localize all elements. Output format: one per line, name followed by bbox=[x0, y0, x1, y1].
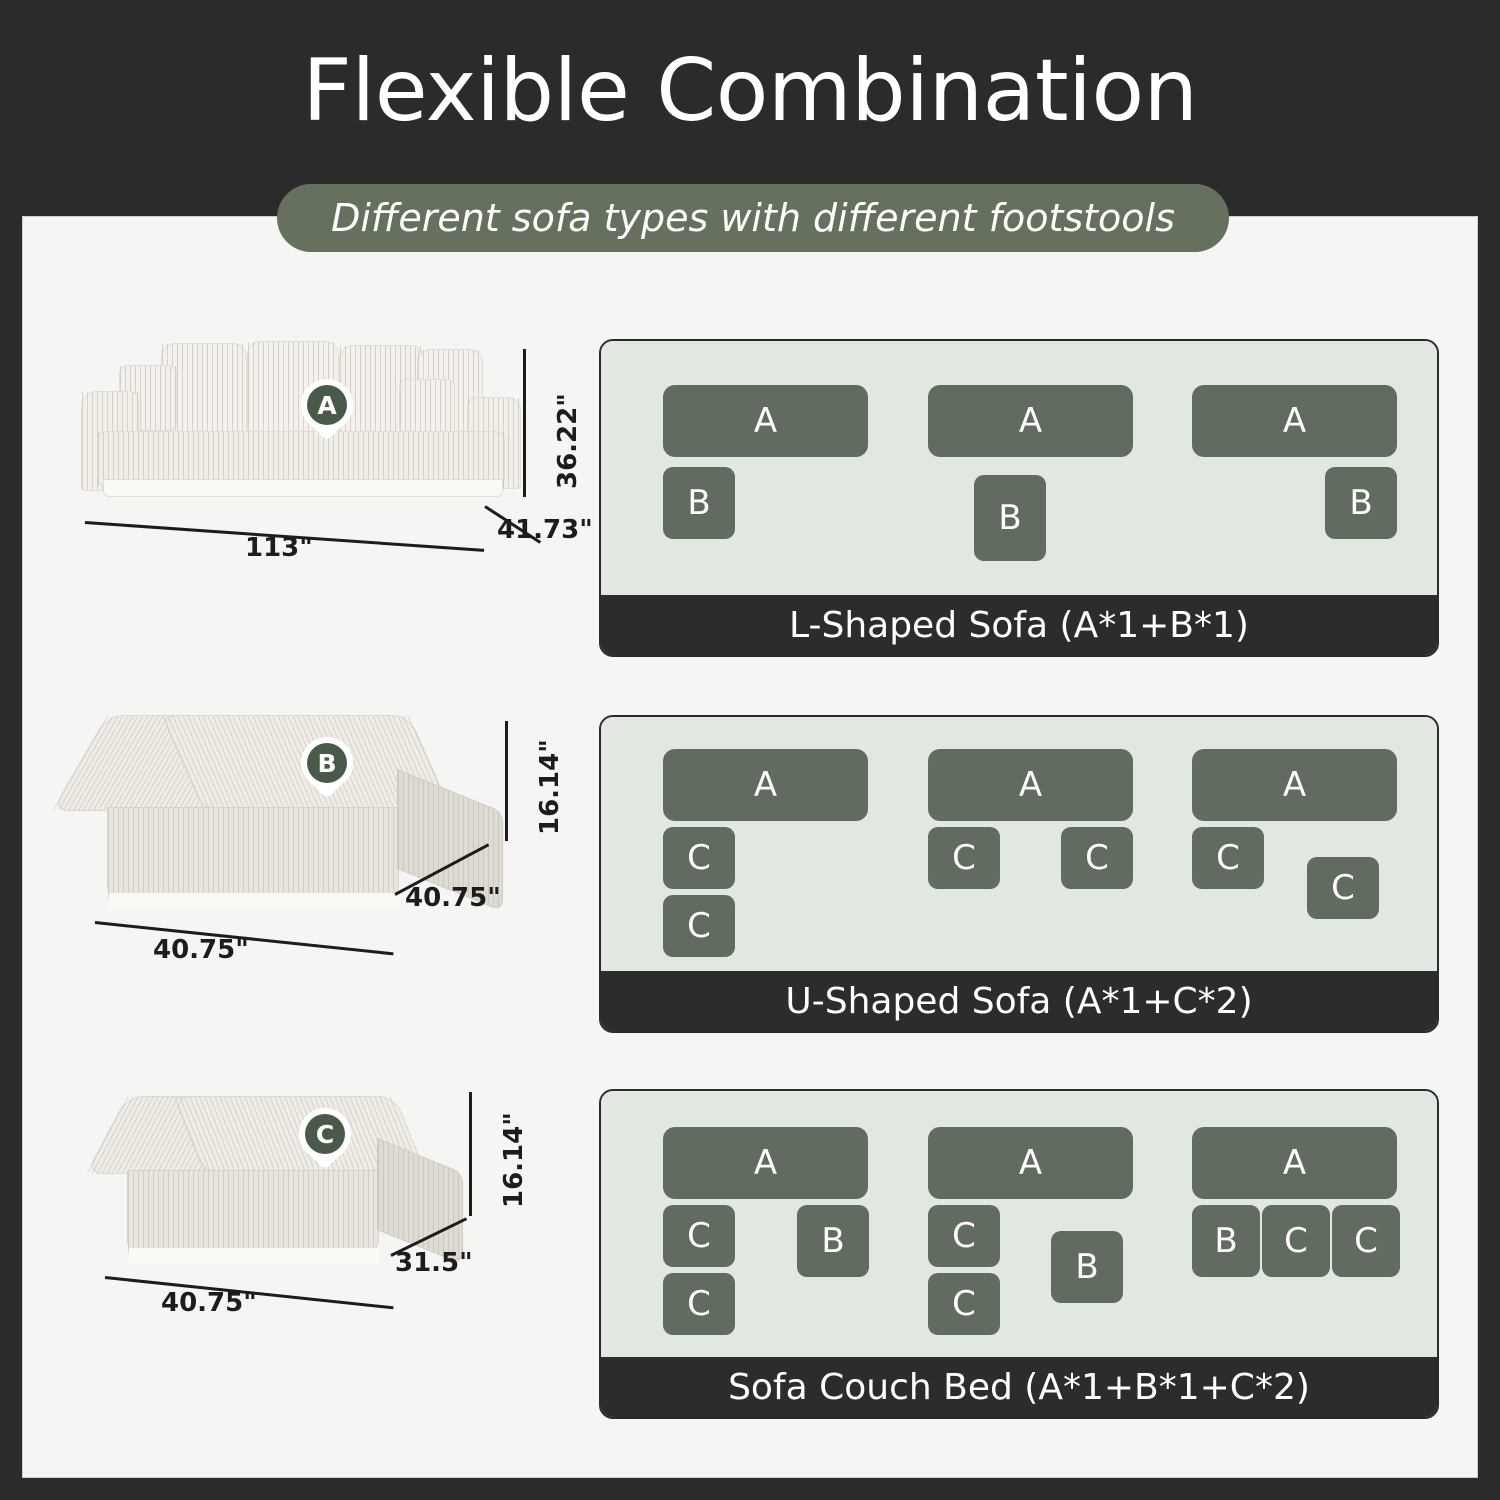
depth-label: 41.73" bbox=[497, 515, 593, 545]
module-block-b: B bbox=[797, 1205, 869, 1277]
module-block-c: C bbox=[928, 827, 1000, 889]
ottoman-b-illustration: B bbox=[61, 707, 541, 957]
panel-diagram-area: ACCBACCBABCC bbox=[601, 1091, 1437, 1357]
content-frame: A 113" 41.73" 36.22" bbox=[22, 216, 1478, 1478]
panel-label: L-Shaped Sofa (A*1+B*1) bbox=[601, 595, 1437, 655]
pin-circle-icon: A bbox=[307, 385, 347, 425]
module-block-c: C bbox=[1307, 857, 1379, 919]
module-block-a: A bbox=[928, 749, 1133, 821]
depth-label: 31.5" bbox=[395, 1248, 473, 1278]
pin-label: C bbox=[316, 1122, 334, 1147]
module-block-c: C bbox=[663, 827, 735, 889]
module-block-a: A bbox=[1192, 1127, 1397, 1199]
module-block-c: C bbox=[663, 895, 735, 957]
module-block-c: C bbox=[1061, 827, 1133, 889]
height-label: 16.14" bbox=[535, 739, 565, 835]
module-block-c: C bbox=[1332, 1205, 1400, 1277]
module-block-b: B bbox=[663, 467, 735, 539]
panel-diagram-area: ACCACCACC bbox=[601, 717, 1437, 971]
height-rule bbox=[523, 349, 526, 497]
panel-diagram-area: ABABAB bbox=[601, 341, 1437, 595]
panel-label: U-Shaped Sofa (A*1+C*2) bbox=[601, 971, 1437, 1031]
module-block-a: A bbox=[663, 749, 868, 821]
pin-marker-a: A bbox=[301, 379, 353, 443]
height-label: 16.14" bbox=[499, 1112, 529, 1208]
product-a: A 113" 41.73" 36.22" bbox=[61, 337, 581, 717]
subtitle-pill: Different sofa types with different foot… bbox=[277, 184, 1229, 252]
module-block-c: C bbox=[1262, 1205, 1330, 1277]
depth-label: 40.75" bbox=[405, 883, 501, 913]
product-b: B 40.75" 40.75" 16.14" bbox=[61, 707, 581, 1087]
module-block-b: B bbox=[1325, 467, 1397, 539]
module-block-a: A bbox=[928, 385, 1133, 457]
width-label: 40.75" bbox=[153, 935, 249, 965]
combination-panel-sofa-couch-bed[interactable]: ACCBACCBABCC Sofa Couch Bed (A*1+B*1+C*2… bbox=[599, 1089, 1439, 1419]
width-label: 40.75" bbox=[161, 1288, 257, 1318]
width-label: 113" bbox=[245, 533, 313, 563]
module-block-c: C bbox=[663, 1205, 735, 1267]
infographic-root: Flexible Combination Different sofa type… bbox=[0, 0, 1500, 1500]
module-block-a: A bbox=[1192, 749, 1397, 821]
height-rule bbox=[505, 721, 508, 841]
page-title: Flexible Combination bbox=[0, 48, 1500, 134]
module-block-b: B bbox=[1051, 1231, 1123, 1303]
module-block-c: C bbox=[928, 1273, 1000, 1335]
module-block-a: A bbox=[928, 1127, 1133, 1199]
pin-label: B bbox=[317, 751, 336, 776]
panel-label: Sofa Couch Bed (A*1+B*1+C*2) bbox=[601, 1357, 1437, 1417]
module-block-c: C bbox=[1192, 827, 1264, 889]
pin-marker-b: B bbox=[301, 737, 353, 801]
combination-panel-u-shaped[interactable]: ACCACCACC U-Shaped Sofa (A*1+C*2) bbox=[599, 715, 1439, 1033]
module-block-b: B bbox=[974, 475, 1046, 561]
pin-circle-icon: B bbox=[307, 743, 347, 783]
height-label: 36.22" bbox=[553, 393, 583, 489]
module-block-a: A bbox=[663, 1127, 868, 1199]
subtitle-text: Different sofa types with different foot… bbox=[331, 196, 1175, 240]
combination-panel-l-shaped[interactable]: ABABAB L-Shaped Sofa (A*1+B*1) bbox=[599, 339, 1439, 657]
module-block-c: C bbox=[928, 1205, 1000, 1267]
module-block-b: B bbox=[1192, 1205, 1260, 1277]
module-block-a: A bbox=[663, 385, 868, 457]
pin-circle-icon: C bbox=[305, 1114, 345, 1154]
height-rule bbox=[469, 1092, 472, 1216]
product-c: C 40.75" 31.5" 16.14" bbox=[61, 1082, 581, 1462]
pin-label: A bbox=[317, 393, 336, 418]
module-block-c: C bbox=[663, 1273, 735, 1335]
pin-marker-c: C bbox=[299, 1108, 351, 1172]
module-block-a: A bbox=[1192, 385, 1397, 457]
